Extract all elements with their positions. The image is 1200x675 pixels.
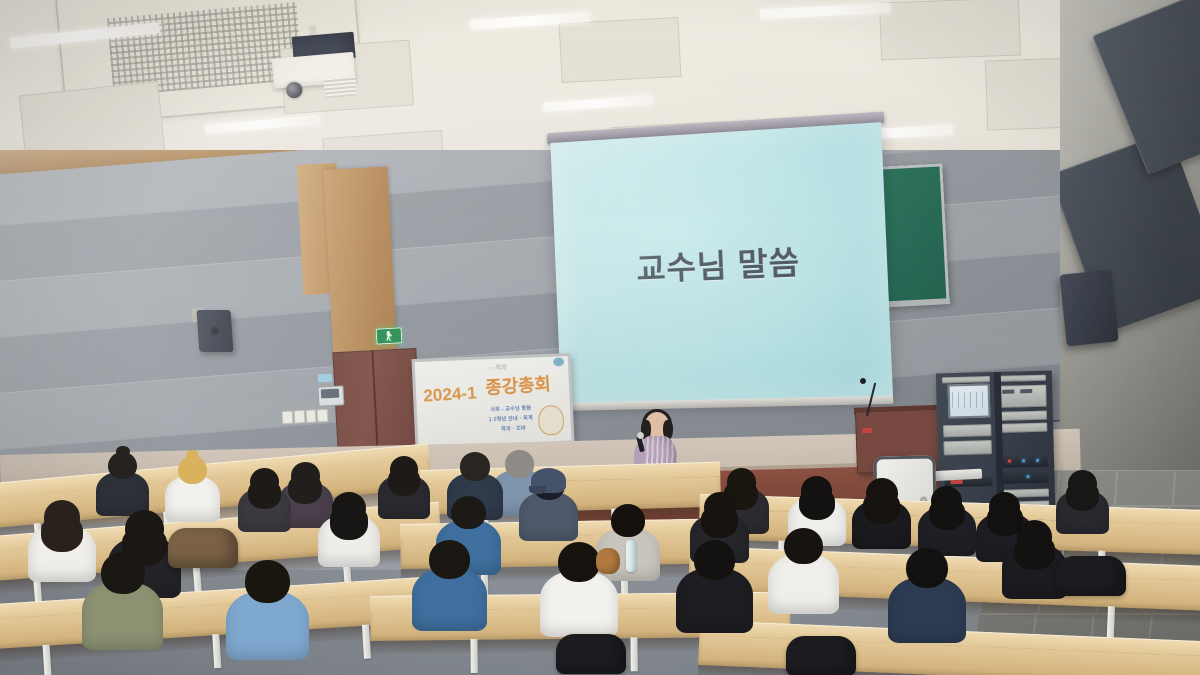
audience-member <box>1002 520 1067 608</box>
ceiling-air-conditioner <box>55 0 365 127</box>
audience-long-hair <box>1066 482 1099 511</box>
monitor-waveform-icon <box>952 392 986 409</box>
status-led <box>1026 475 1029 478</box>
ceiling-light-strip <box>760 3 890 20</box>
whiteboard: ○○학과 2024-1 종강총회 사회 - 교수님 말씀 1·2학년 안내 · … <box>411 353 574 452</box>
audience-long-hair <box>330 506 369 540</box>
audience-long-hair <box>248 480 281 509</box>
audience-long-hair <box>41 516 83 553</box>
microphone-head-icon <box>637 432 644 439</box>
rack-unit <box>998 375 1046 382</box>
desk-leg <box>1107 606 1115 640</box>
microphone-head-icon <box>860 378 866 384</box>
outlet-socket[interactable] <box>293 410 304 424</box>
control-panel-display <box>321 389 339 399</box>
status-led <box>1008 460 1011 463</box>
audience-member <box>318 492 380 576</box>
audience-hair-bun <box>116 446 129 457</box>
whiteboard-magnet <box>553 357 564 366</box>
speaker-cone-icon <box>210 326 220 336</box>
audience-hair <box>558 542 600 582</box>
audience-hair <box>101 552 145 594</box>
whiteboard-note-line-1: 사회 - 교수님 말씀 <box>490 406 531 413</box>
audience-member <box>676 540 753 644</box>
cap-brim <box>529 486 547 494</box>
audience-member <box>519 470 578 550</box>
wall-speaker-right <box>1059 269 1118 346</box>
audience-member <box>226 560 309 672</box>
audience-long-hair <box>701 506 738 538</box>
slide-title-text: 교수님 말씀 <box>635 236 801 289</box>
projected-slide: 교수님 말씀 <box>550 122 893 405</box>
floor-tile <box>1115 470 1176 506</box>
whiteboard-year-text: 2024-1 <box>423 384 477 404</box>
audience-long-hair <box>929 499 965 530</box>
audience-hair <box>611 504 645 537</box>
whiteboard-note-line-3: 학과 · 조바 <box>501 426 526 432</box>
wall-label-tag <box>318 374 332 383</box>
teddy-bear <box>596 548 620 574</box>
ceiling-projector <box>270 31 365 95</box>
audience-long-hair <box>1014 535 1054 570</box>
lecture-hall-photo: 교수님 말씀 ○○학과 2024-1 종강총회 사회 - 교수님 말씀 1·2학… <box>0 0 1200 675</box>
ceiling-light-strip <box>10 22 160 49</box>
audience-hair <box>429 540 470 579</box>
audience-hair <box>694 540 736 580</box>
audience-hair <box>784 528 822 564</box>
floor-tile <box>1173 470 1200 506</box>
rack-indicator <box>951 480 963 484</box>
ceiling-tile <box>879 0 1021 60</box>
audience-long-hair <box>863 492 900 524</box>
audience-member <box>378 456 430 526</box>
audience-member <box>412 540 487 642</box>
audience-member <box>768 528 839 624</box>
ceiling-light-strip <box>470 12 590 30</box>
rack-button[interactable] <box>1002 389 1014 393</box>
rack-unit <box>944 440 992 455</box>
audience-hair <box>906 548 948 588</box>
whiteboard-note-line-2: 1·2학년 안내 · 회계 <box>489 416 533 423</box>
wall-outlet-panel[interactable] <box>282 409 329 424</box>
ceiling-light-strip <box>543 95 653 112</box>
audience-long-hair <box>388 468 420 496</box>
rack-unit <box>942 376 990 383</box>
outlet-socket[interactable] <box>317 409 328 423</box>
backpack-black <box>556 634 626 674</box>
ceiling-tile <box>559 17 682 83</box>
outlet-socket[interactable] <box>305 409 316 423</box>
rack-unit <box>999 411 1047 421</box>
projection-screen: 교수님 말씀 <box>547 111 897 421</box>
status-led <box>1022 459 1025 462</box>
rack-monitor-display <box>948 383 991 418</box>
rack-unit <box>943 424 991 437</box>
whiteboard-small-header: ○○학과 <box>488 365 506 372</box>
status-led <box>1036 459 1039 462</box>
projector-vent-icon <box>323 76 357 99</box>
outlet-socket[interactable] <box>282 411 293 425</box>
water-bottle <box>626 540 636 572</box>
audience-member <box>888 548 966 654</box>
rack-unit <box>998 385 1047 408</box>
rack-unit-dark <box>1000 471 1048 484</box>
ceiling-light-strip <box>205 115 320 134</box>
desk-leg <box>470 639 477 673</box>
rack-unit-dark <box>1000 455 1048 468</box>
audience-member <box>852 478 911 558</box>
emergency-exit-sign <box>376 327 403 344</box>
audience-hair <box>245 560 290 603</box>
podium-emblem <box>862 428 872 433</box>
whiteboard-heading-text: 종강총회 <box>485 375 551 397</box>
audience-hair-bun <box>186 450 200 462</box>
ac-grille-icon <box>107 2 303 96</box>
audience-hair <box>451 496 486 529</box>
projector-body <box>271 52 355 89</box>
running-man-icon <box>386 331 393 341</box>
backpack-black-2 <box>786 636 856 675</box>
audience-member <box>82 552 163 662</box>
rack-unit <box>999 423 1047 433</box>
whiteboard-doodle-icon <box>538 405 565 436</box>
projector-lens-icon <box>286 81 303 98</box>
audience-long-hair <box>799 489 835 520</box>
bag-on-chair <box>1056 556 1126 596</box>
rack-button[interactable] <box>1020 389 1032 393</box>
desk-leg <box>630 637 637 671</box>
audience-member <box>238 468 291 540</box>
projector-mount <box>309 25 317 42</box>
audience-hair <box>460 452 490 481</box>
ceiling-tile <box>280 40 414 115</box>
projector-top-shell <box>292 32 356 63</box>
